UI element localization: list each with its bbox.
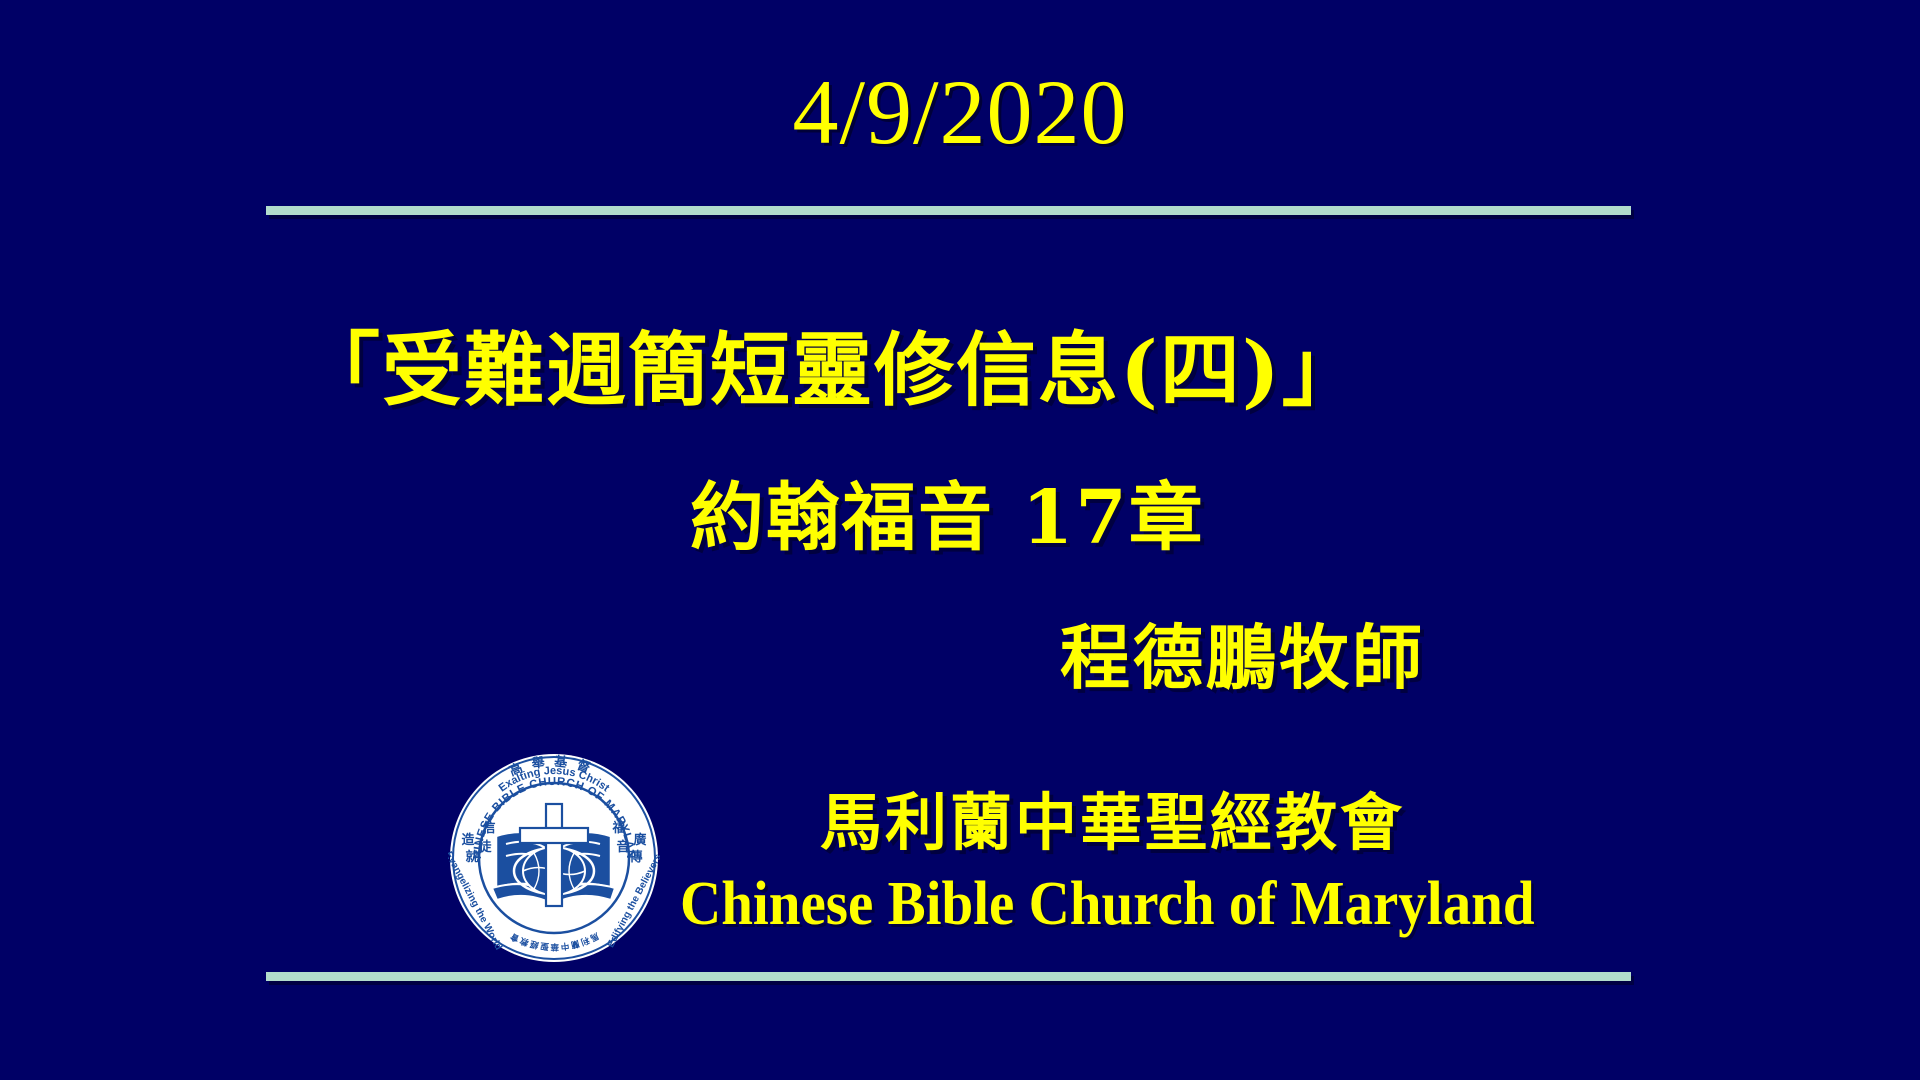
slide-title-primary: 「受難週簡短靈修信息(四)」: [300, 322, 1364, 418]
church-logo: 高舉基督 Exalting Jesus Christ CHINESE BIBLE…: [448, 752, 660, 964]
slide-canvas: 4/9/2020 「受難週簡短靈修信息(四)」 約翰福音 17章 程德鵬牧師 高…: [0, 0, 1920, 1080]
slide-speaker-name: 程德鵬牧師: [1060, 614, 1425, 702]
church-logo-seal: 高舉基督 Exalting Jesus Christ CHINESE BIBLE…: [448, 752, 660, 964]
slide-date: 4/9/2020: [0, 62, 1920, 162]
church-name-english: Chinese Bible Church of Maryland: [680, 868, 1535, 940]
church-name-chinese: 馬利蘭中華聖經教會: [820, 786, 1405, 860]
slide-scripture-reference: 約翰福音 17章: [690, 472, 1205, 564]
divider-bottom: [266, 972, 1631, 981]
divider-top: [266, 206, 1631, 215]
